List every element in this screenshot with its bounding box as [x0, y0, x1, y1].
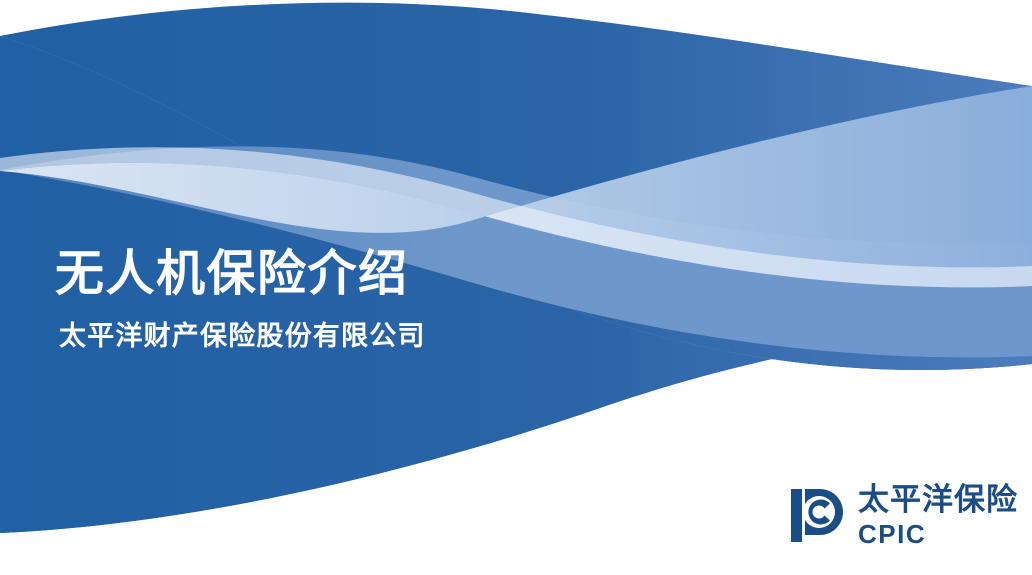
cpic-logo: 太平洋保险 CPIC: [789, 483, 1004, 547]
page-subtitle: 太平洋财产保险股份有限公司: [55, 302, 675, 352]
page-title: 无人机保险介绍: [55, 247, 675, 302]
cpic-monogram-icon: [789, 485, 847, 545]
title-slide: 无人机保险介绍 太平洋财产保险股份有限公司 太平洋保险 CPIC: [0, 0, 1032, 575]
title-text-block: 无人机保险介绍 太平洋财产保险股份有限公司: [55, 247, 675, 352]
logo-chinese-name: 太平洋保险: [858, 484, 1018, 515]
logo-english-name: CPIC: [858, 515, 1018, 547]
logo-wordmark: 太平洋保险 CPIC: [858, 484, 1018, 547]
